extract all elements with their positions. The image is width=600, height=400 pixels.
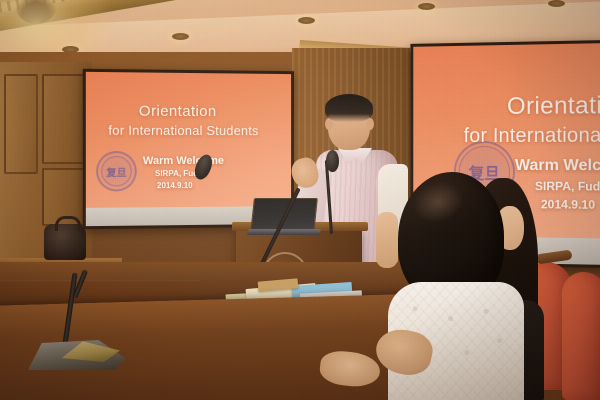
ceiling-downlight xyxy=(418,3,435,10)
slide-date-text: 2014.9.10 xyxy=(541,197,595,212)
slide-title: Orientation xyxy=(139,103,217,120)
ceiling-downlight xyxy=(298,17,315,24)
cabinet-door-panel xyxy=(4,74,38,174)
presenter-ear xyxy=(366,118,374,130)
slide-subtitle: for International Students xyxy=(464,124,600,148)
presenter-hair xyxy=(325,94,373,122)
laptop-keyboard-base xyxy=(247,229,321,235)
ceiling-downlight xyxy=(548,0,565,7)
attendee-partial-left-arm xyxy=(376,212,398,268)
slide-org-text: SIRPA, Fudan xyxy=(535,179,600,194)
podium-microphone-head xyxy=(326,150,339,172)
auditorium-seat xyxy=(562,272,600,400)
slide-date-text: 2014.9.10 xyxy=(157,181,193,190)
slide-subtitle: for International Students xyxy=(108,123,258,138)
ceiling-downlight xyxy=(172,33,189,40)
fudan-seal-icon: 复旦 xyxy=(96,151,137,192)
bag-handle xyxy=(55,216,81,231)
photo-scene: 复旦 Orientation for International Student… xyxy=(0,0,600,400)
slide-title: Orientation xyxy=(507,92,600,121)
slide-welcome-text: Warm Welcome xyxy=(515,157,600,175)
